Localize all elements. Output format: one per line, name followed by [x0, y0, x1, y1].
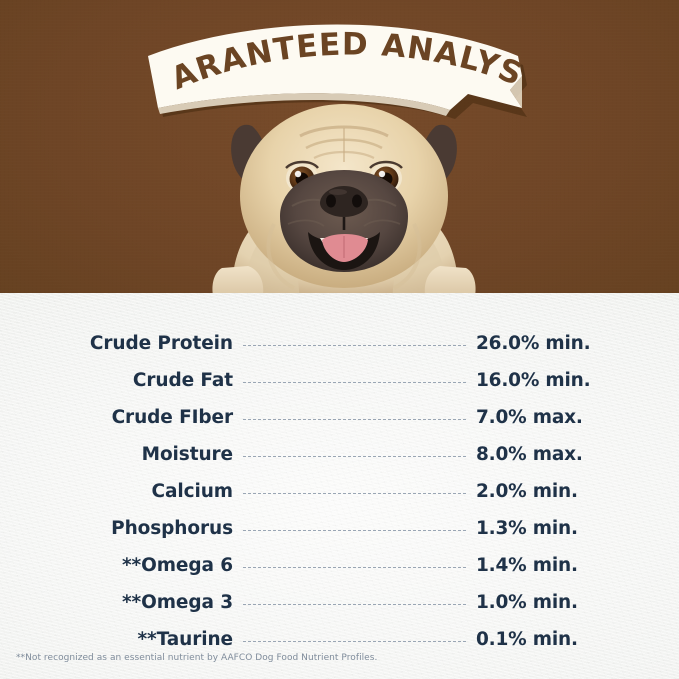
dog-paw-left: [212, 266, 263, 310]
table-row: Phosphorus 1.3% min.: [0, 510, 679, 547]
nutrient-label: Crude Fat: [0, 370, 233, 391]
dog-paw-right: [425, 266, 476, 310]
leader-line: [243, 493, 466, 495]
leader-line: [243, 345, 466, 347]
leader-line: [243, 456, 466, 458]
nutrient-label: Crude Protein: [0, 333, 233, 354]
footnote: **Not recognized as an essential nutrien…: [16, 653, 377, 663]
table-row: Calcium 2.0% min.: [0, 473, 679, 510]
leader-line: [243, 641, 466, 643]
nutrient-value: 1.0% min.: [476, 592, 578, 613]
nutrient-value: 26.0% min.: [476, 333, 590, 354]
nutrient-value: 1.4% min.: [476, 555, 578, 576]
nutrient-value: 7.0% max.: [476, 407, 583, 428]
table-row: Moisture 8.0% max.: [0, 436, 679, 473]
table-row: Crude Fat 16.0% min.: [0, 362, 679, 399]
banner-title: GUARANTEED ANALYSIS: [0, 0, 528, 97]
leader-line: [243, 530, 466, 532]
nutrient-value: 8.0% max.: [476, 444, 583, 465]
leader-line: [243, 419, 466, 421]
table-row: Crude Protein 26.0% min.: [0, 325, 679, 362]
nutrient-label: Crude FIber: [0, 407, 233, 428]
nutrient-label: Calcium: [0, 481, 233, 502]
leader-line: [243, 567, 466, 569]
nutrient-value: 16.0% min.: [476, 370, 590, 391]
nutrient-label: Moisture: [0, 444, 233, 465]
table-row: **Omega 6 1.4% min.: [0, 547, 679, 584]
nutrient-label: **Taurine: [0, 629, 233, 650]
nutrient-label: Phosphorus: [0, 518, 233, 539]
nutrient-value: 2.0% min.: [476, 481, 578, 502]
nutrient-value: 0.1% min.: [476, 629, 578, 650]
leader-line: [243, 382, 466, 384]
guaranteed-analysis-table: Crude Protein 26.0% min. Crude Fat 16.0%…: [0, 325, 679, 658]
guaranteed-analysis-poster: GUARANTEED ANALYSIS Crude Protein 26.0% …: [0, 0, 679, 679]
banner: GUARANTEED ANALYSIS: [0, 0, 679, 135]
nutrient-value: 1.3% min.: [476, 518, 578, 539]
nutrient-label: **Omega 6: [0, 555, 233, 576]
leader-line: [243, 604, 466, 606]
table-row: Crude FIber 7.0% max.: [0, 399, 679, 436]
table-row: **Omega 3 1.0% min.: [0, 584, 679, 621]
nutrient-label: **Omega 3: [0, 592, 233, 613]
